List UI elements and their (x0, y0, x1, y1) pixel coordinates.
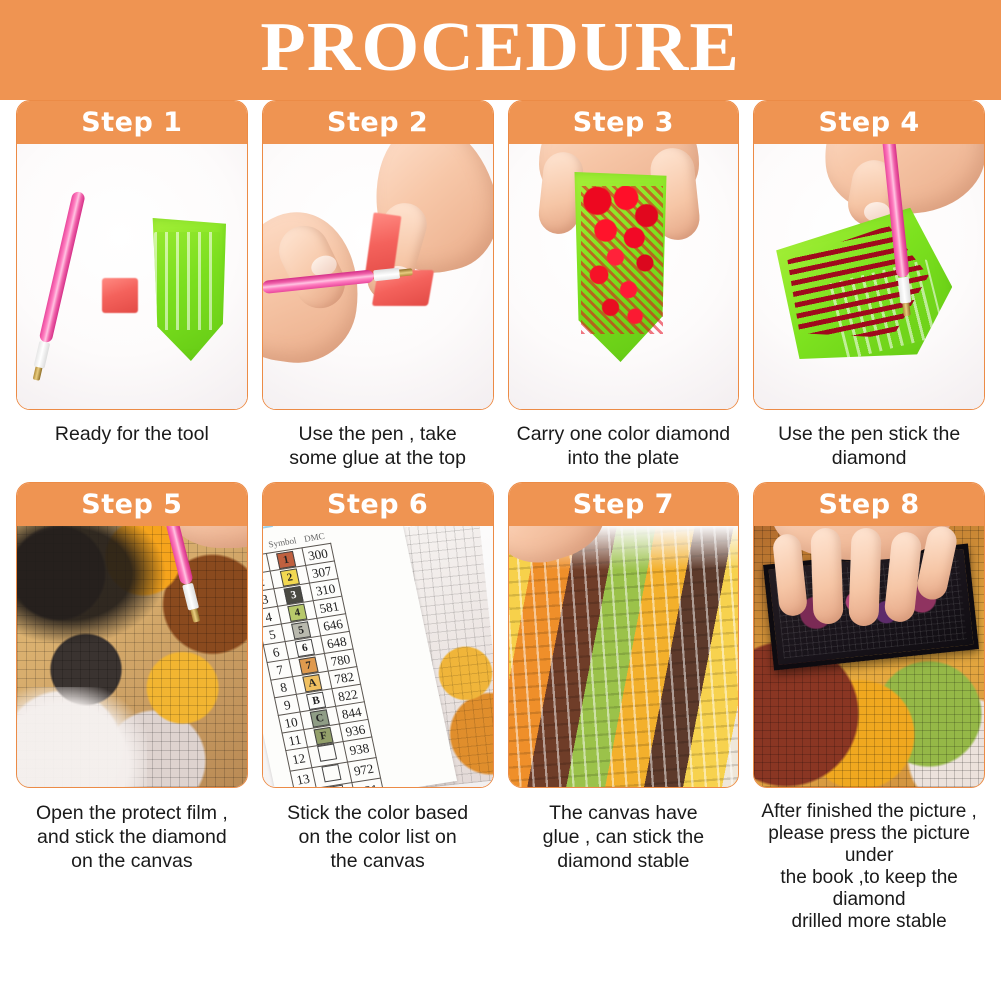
step-4-header-label: Step 4 (819, 109, 920, 136)
step-8-header-label: Step 8 (819, 491, 920, 518)
step-2-header-label: Step 2 (327, 109, 428, 136)
finger-icon (849, 528, 882, 627)
swatch: C (310, 709, 330, 727)
step-4-header: Step 4 (754, 101, 984, 144)
step-card-4: Step 4 (753, 100, 985, 470)
step-card-6: Step 6 No Symbol DMC (262, 482, 494, 933)
swatch: A (302, 674, 322, 692)
dark-leaves-icon (17, 526, 167, 646)
swatch: 2 (280, 568, 300, 586)
step-2-header: Step 2 (263, 101, 493, 144)
steps-grid: Step 1 Ready (0, 100, 1001, 933)
diamond-tray-icon (148, 218, 226, 361)
step-7-image (509, 526, 739, 787)
step-3-image (509, 144, 739, 409)
glue-wax-icon (102, 278, 138, 313)
step-8-caption: After finished the picture ,please press… (753, 788, 985, 933)
swatch: 1 (276, 551, 296, 569)
swatch (321, 764, 341, 782)
step-5-card: Step 5 (16, 482, 248, 788)
step-card-8: Step 8 After finis (753, 482, 985, 933)
step-1-card: Step 1 (16, 100, 248, 410)
step-1-image (17, 144, 247, 409)
step-3-card: Step 3 (508, 100, 740, 410)
step-5-header-label: Step 5 (81, 491, 182, 518)
page-banner: PROCEDURE (0, 0, 1001, 100)
page-title: PROCEDURE (261, 13, 741, 87)
finger-icon (811, 528, 844, 625)
step-card-1: Step 1 Ready (16, 100, 248, 470)
step-3-caption: Carry one color diamondinto the plate (508, 410, 740, 470)
step-7-caption: The canvas haveglue , can stick thediamo… (508, 788, 740, 873)
step-8-header: Step 8 (754, 483, 984, 526)
step-8-image (754, 526, 984, 787)
step-7-header-label: Step 7 (573, 491, 674, 518)
swatch: F (313, 727, 333, 745)
step-card-2: Step 2 (262, 100, 494, 470)
step-2-caption: Use the pen , takesome glue at the top (262, 410, 494, 470)
step-6-card: Step 6 No Symbol DMC (262, 482, 494, 788)
step-6-header-label: Step 6 (327, 491, 428, 518)
step-6-image: No Symbol DMC 1 1 300 2 2 307 (263, 526, 493, 787)
step-5-header: Step 5 (17, 483, 247, 526)
step-3-header-label: Step 3 (573, 109, 674, 136)
step-6-header: Step 6 (263, 483, 493, 526)
step-6-caption: Stick the color basedon the color list o… (262, 788, 494, 873)
step-1-header-label: Step 1 (81, 109, 182, 136)
step-1-caption: Ready for the tool (16, 410, 248, 446)
step-2-image (263, 144, 493, 409)
step-7-header: Step 7 (509, 483, 739, 526)
step-7-card: Step 7 (508, 482, 740, 788)
step-1-header: Step 1 (17, 101, 247, 144)
swatch (317, 744, 337, 762)
step-card-3: Step 3 Carry one color diamondinto the p… (508, 100, 740, 470)
step-card-7: Step 7 The canvas haveglue , can stick t… (508, 482, 740, 933)
white-petals-icon (17, 687, 147, 787)
step-5-image (17, 526, 247, 787)
step-3-header: Step 3 (509, 101, 739, 144)
red-diamonds-icon (581, 186, 663, 334)
swatch: 5 (291, 621, 311, 639)
step-2-card: Step 2 (262, 100, 494, 410)
step-4-card: Step 4 (753, 100, 985, 410)
step-4-image (754, 144, 984, 409)
swatch: 4 (287, 604, 307, 622)
step-4-caption: Use the pen stick thediamond (753, 410, 985, 470)
step-8-card: Step 8 (753, 482, 985, 788)
diamond-pen-icon (30, 191, 86, 382)
swatch: 6 (295, 639, 315, 657)
step-card-5: Step 5 Open the protect film ,and stick … (16, 482, 248, 933)
step-5-caption: Open the protect film ,and stick the dia… (16, 788, 248, 873)
swatch: 3 (283, 586, 303, 604)
swatch: 7 (298, 656, 318, 674)
swatch: B (306, 692, 326, 710)
